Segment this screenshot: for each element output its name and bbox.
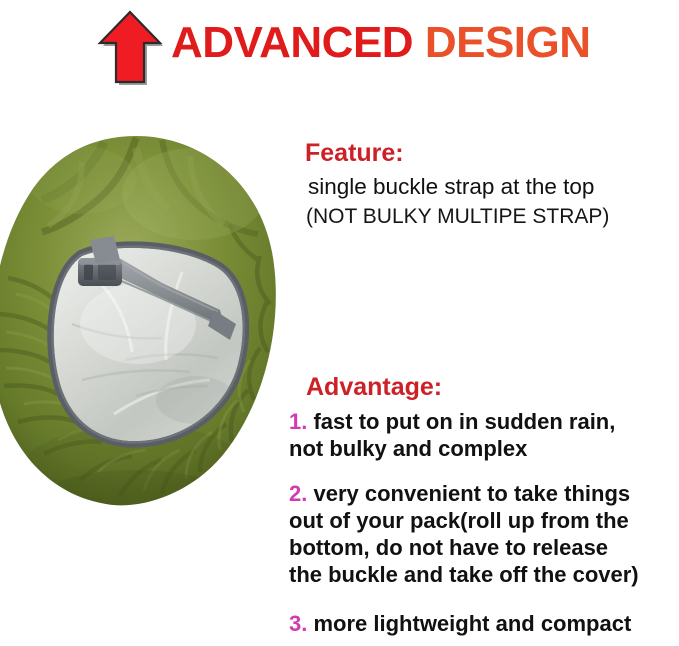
feature-main-line: single buckle strap at the top <box>308 172 677 202</box>
title-word-advanced: ADVANCED <box>171 18 413 67</box>
advantage-item-3-line-1: more lightweight and compact <box>313 611 631 636</box>
advantage-item-1: 1. fast to put on in sudden rain, not bu… <box>289 408 679 462</box>
advantage-item-2-number: 2. <box>289 481 307 506</box>
advantage-item-2: 2. very convenient to take things out of… <box>289 480 679 588</box>
header-banner: ADVANCED DESIGN <box>0 0 679 96</box>
product-image-rain-cover <box>0 128 286 510</box>
title-word-design: DESIGN <box>425 18 591 67</box>
feature-sub-line: (NOT BULKY MULTIPE STRAP) <box>306 202 677 231</box>
advantage-item-2-line-3: bottom, do not have to release <box>289 535 608 560</box>
advantage-item-1-line-2: not bulky and complex <box>289 436 527 461</box>
advantage-item-1-number: 1. <box>289 409 307 434</box>
advantage-item-1-line-1: fast to put on in sudden rain, <box>313 409 615 434</box>
advantage-item-2-line-2: out of your pack(roll up from the <box>289 508 629 533</box>
advantage-item-2-line-4: the buckle and take off the cover) <box>289 562 639 587</box>
advantage-item-2-line-1: very convenient to take things <box>313 481 630 506</box>
feature-heading: Feature: <box>305 138 677 168</box>
advantage-item-3-number: 3. <box>289 611 307 636</box>
feature-section: Feature: single buckle strap at the top … <box>305 138 677 231</box>
advantage-section: Advantage: 1. fast to put on in sudden r… <box>289 372 679 637</box>
advantage-heading: Advantage: <box>306 372 679 402</box>
advantage-item-3: 3. more lightweight and compact <box>289 610 679 637</box>
arrow-up-icon <box>97 9 163 85</box>
page-title: ADVANCED DESIGN <box>171 17 591 69</box>
product-feature-infographic: ADVANCED DESIGN <box>0 0 679 646</box>
